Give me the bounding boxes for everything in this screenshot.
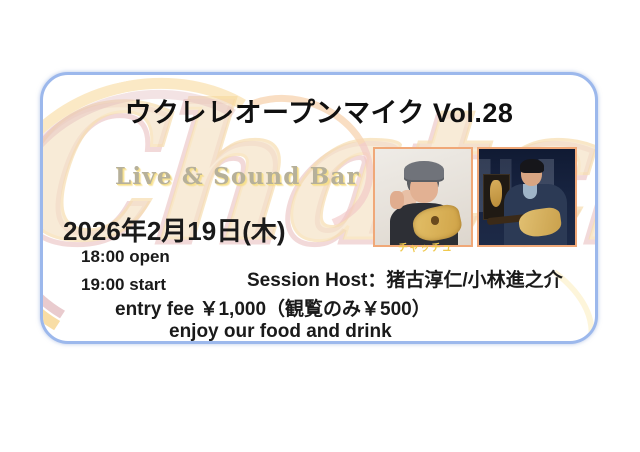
host-photo-right bbox=[477, 147, 577, 247]
entry-fee-line: entry fee ￥1,000（観覧のみ￥500） bbox=[115, 294, 431, 321]
event-start-time: 19:00 start bbox=[81, 275, 166, 295]
host-photo-left-image bbox=[375, 149, 471, 245]
event-flyer-card: Chatch Chatch ウクレレオープンマイク Vol.28 Live & … bbox=[40, 72, 598, 344]
event-title: ウクレレオープンマイク Vol.28 bbox=[43, 91, 595, 130]
event-open-time: 18:00 open bbox=[81, 247, 170, 267]
host-photo-right-image bbox=[479, 149, 575, 245]
ukulele-soundhole-icon bbox=[431, 216, 440, 225]
food-and-drink-note: enjoy our food and drink bbox=[169, 321, 392, 343]
flat-cap-icon bbox=[404, 161, 444, 180]
host-photo-left bbox=[373, 147, 473, 247]
venue-wordmark: Live & Sound Bar bbox=[115, 163, 360, 190]
host-photo-right-hair bbox=[520, 159, 544, 173]
session-host-line: Session Host：猪古淳仁/小林進之介 bbox=[247, 265, 563, 292]
host-photo-left-hand bbox=[390, 191, 403, 208]
event-date: 2026年2月19日(木) bbox=[63, 211, 286, 248]
venue-name-furigana: チャッチュ bbox=[398, 239, 453, 254]
wall-ukulele-icon bbox=[490, 180, 502, 207]
host-photo-strip bbox=[373, 147, 577, 247]
